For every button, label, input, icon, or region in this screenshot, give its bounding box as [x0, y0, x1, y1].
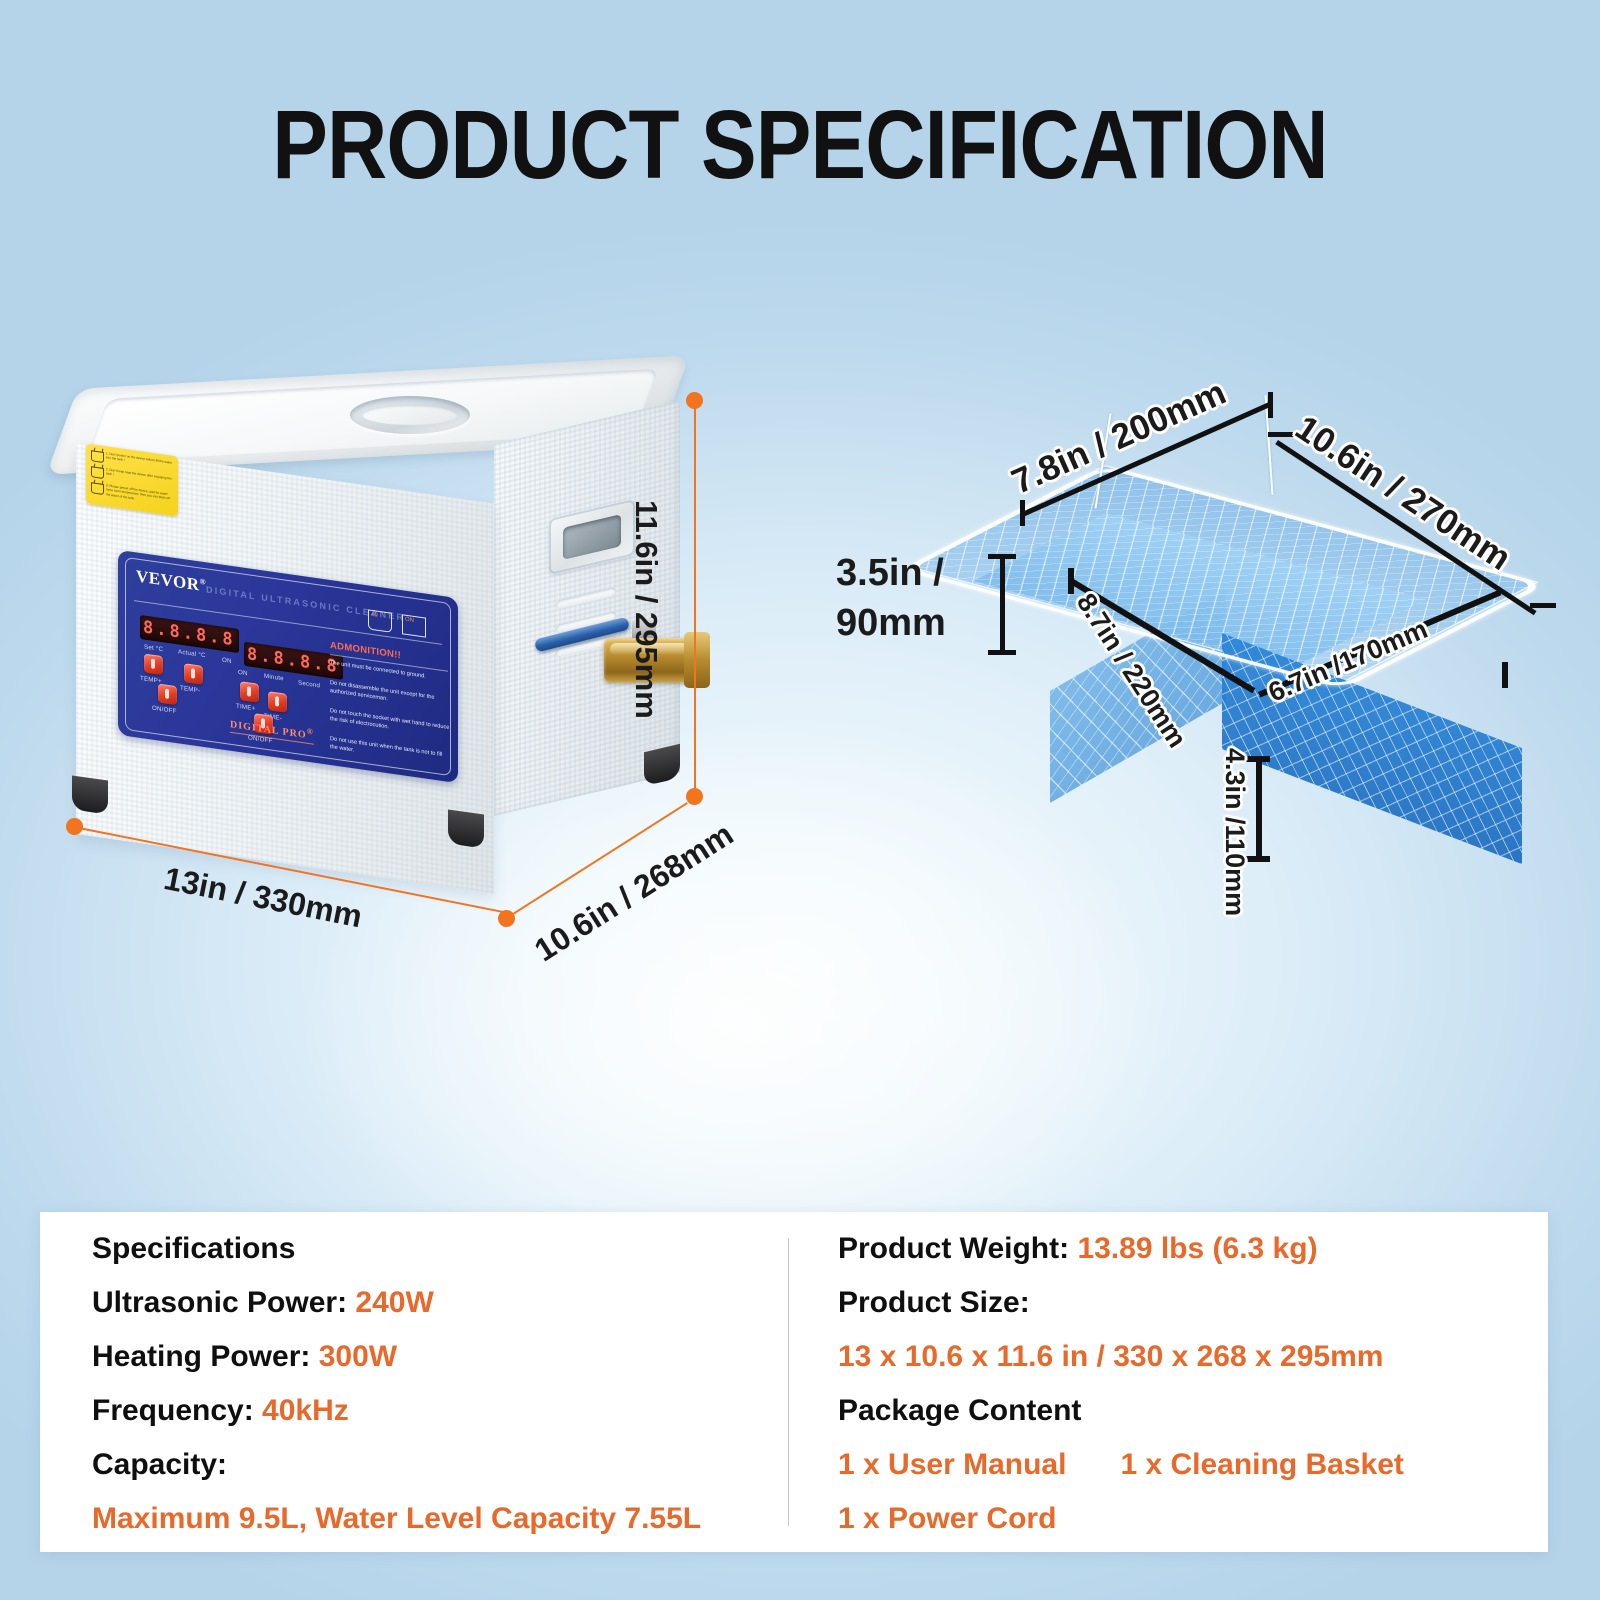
spec-product-size-value: 13 x 10.6 x 11.6 in / 330 x 268 x 295mm	[838, 1342, 1538, 1372]
dim-label-height: 11.6in / 295mm	[628, 500, 664, 719]
basket-inner-height-line	[1256, 760, 1262, 860]
frequency-label: Frequency:	[92, 1394, 262, 1427]
spec-capacity-value: Maximum 9.5L, Water Level Capacity 7.55L	[92, 1504, 772, 1534]
digital-pro-mark: ®	[307, 727, 314, 737]
spec-heating-power: Heating Power: 300W	[92, 1342, 772, 1372]
temp-down-button[interactable]	[184, 663, 203, 685]
weight-label: Product Weight:	[838, 1232, 1077, 1265]
spec-product-size-label: Product Size:	[838, 1288, 1538, 1318]
spec-column-divider	[788, 1238, 789, 1526]
heating-power-label: Heating Power:	[92, 1340, 319, 1373]
package-item-power-cord: 1 x Power Cord	[838, 1504, 1538, 1534]
basket-outer-height-cap	[988, 554, 1016, 559]
heating-power-value: 300W	[319, 1340, 397, 1373]
spec-package-row-1: 1 x User Manual 1 x Cleaning Basket	[838, 1450, 1538, 1480]
lid-knob	[350, 396, 470, 434]
weight-value: 13.89 lbs (6.3 kg)	[1077, 1232, 1317, 1265]
time-up-button[interactable]	[240, 681, 259, 703]
spec-right-column: Product Weight: 13.89 lbs (6.3 kg) Produ…	[838, 1234, 1538, 1558]
spec-ultrasonic-power: Ultrasonic Power: 240W	[92, 1288, 772, 1318]
basket-outer-depth-cap	[1530, 603, 1556, 608]
specification-panel: Specifications Ultrasonic Power: 240W He…	[40, 1212, 1548, 1552]
label-time-on: ON	[238, 669, 248, 677]
basket-dim-outer-height-1: 3.5in /	[836, 552, 944, 595]
basket-dim-inner-height: 4.3in /110mm	[1219, 748, 1250, 916]
basket-inner-width-cap	[1502, 662, 1508, 688]
basket-outer-width-cap	[1020, 500, 1025, 526]
temp-onoff-button[interactable]	[158, 683, 177, 705]
wash-care-icon: 40	[368, 609, 392, 632]
temp-up-button[interactable]	[144, 654, 163, 676]
spec-capacity-label: Capacity:	[92, 1450, 772, 1480]
product-specification-page: PRODUCT SPECIFICATION 1. Don't power on …	[0, 0, 1600, 1600]
spec-package-heading: Package Content	[838, 1396, 1538, 1426]
ultrasonic-power-value: 240W	[355, 1286, 433, 1319]
basket-wire-rim	[901, 465, 1547, 689]
basket-inner-depth-cap	[1068, 568, 1074, 594]
package-item-cleaning-basket: 1 x Cleaning Basket	[1120, 1450, 1403, 1480]
height-dim-line	[694, 400, 696, 796]
spec-left-column: Specifications Ultrasonic Power: 240W He…	[92, 1234, 772, 1558]
sticker-line-1: 1. Don't power on the device before fill…	[106, 451, 174, 470]
cleaner-foot	[644, 744, 680, 786]
package-item-user-manual: 1 x User Manual	[838, 1450, 1066, 1480]
ultrasonic-power-label: Ultrasonic Power:	[92, 1286, 355, 1319]
spec-product-weight: Product Weight: 13.89 lbs (6.3 kg)	[838, 1234, 1538, 1264]
spec-frequency: Frequency: 40kHz	[92, 1396, 772, 1426]
no-heat-icon	[91, 466, 104, 479]
valve-outlet-nut	[684, 632, 710, 688]
no-power-icon	[91, 450, 104, 463]
basket-care-icon: ON	[402, 614, 426, 637]
time-down-button[interactable]	[268, 691, 287, 713]
label-temp-on: ON	[222, 657, 232, 665]
basket-dim-outer-height-2: 90mm	[836, 602, 946, 645]
basket-outer-width-cap	[1268, 392, 1273, 418]
drain-water-icon	[91, 482, 104, 495]
basket-outer-height-line	[1000, 556, 1005, 654]
spec-heading: Specifications	[92, 1234, 772, 1264]
frequency-value: 40kHz	[262, 1394, 349, 1427]
ultrasonic-cleaner-illustration: 1. Don't power on the device before fill…	[58, 366, 718, 896]
page-title: PRODUCT SPECIFICATION	[112, 96, 1488, 193]
basket-outer-height-cap	[988, 650, 1016, 655]
